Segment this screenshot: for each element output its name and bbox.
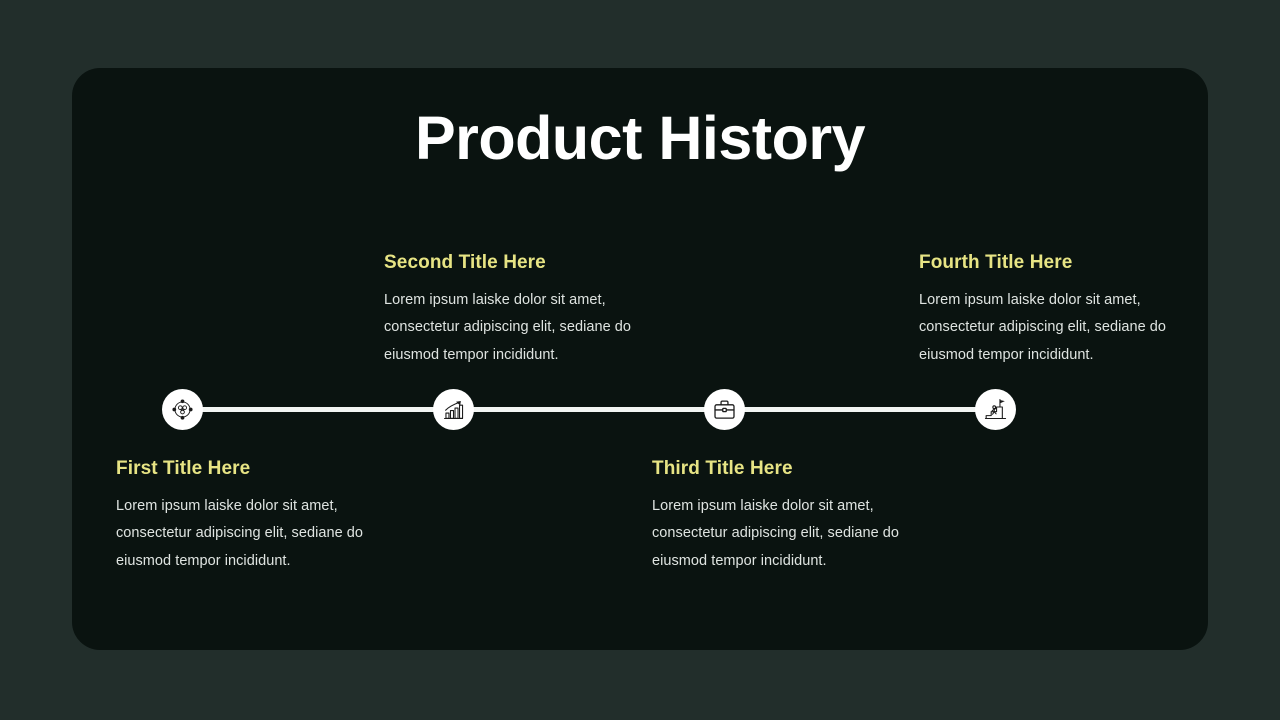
growth-bar-chart-icon xyxy=(442,398,465,421)
timeline-node-3[interactable] xyxy=(704,389,745,430)
info-block-fourth: Fourth Title Here Lorem ipsum laiske dol… xyxy=(919,252,1199,369)
timeline-node-1[interactable] xyxy=(162,389,203,430)
info-block-third: Third Title Here Lorem ipsum laiske dolo… xyxy=(652,458,932,575)
info-block-second: Second Title Here Lorem ipsum laiske dol… xyxy=(384,252,664,369)
timeline-node-4[interactable] xyxy=(975,389,1016,430)
timeline-node-2[interactable] xyxy=(433,389,474,430)
info-block-first: First Title Here Lorem ipsum laiske dolo… xyxy=(116,458,396,575)
info-block-title: Third Title Here xyxy=(652,458,932,481)
info-block-title: First Title Here xyxy=(116,458,396,481)
info-block-body: Lorem ipsum laiske dolor sit amet, conse… xyxy=(384,287,664,370)
timeline-track xyxy=(168,407,1008,412)
slide-card: Product History xyxy=(72,68,1208,650)
network-nodes-icon xyxy=(171,398,194,421)
briefcase-icon xyxy=(713,398,736,421)
info-block-title: Fourth Title Here xyxy=(919,252,1199,275)
info-block-body: Lorem ipsum laiske dolor sit amet, conse… xyxy=(116,493,396,576)
stairs-flag-goal-icon xyxy=(984,398,1007,421)
info-block-title: Second Title Here xyxy=(384,252,664,275)
slide-root: Product History xyxy=(0,0,1280,720)
info-block-body: Lorem ipsum laiske dolor sit amet, conse… xyxy=(652,493,932,576)
info-block-body: Lorem ipsum laiske dolor sit amet, conse… xyxy=(919,287,1199,370)
